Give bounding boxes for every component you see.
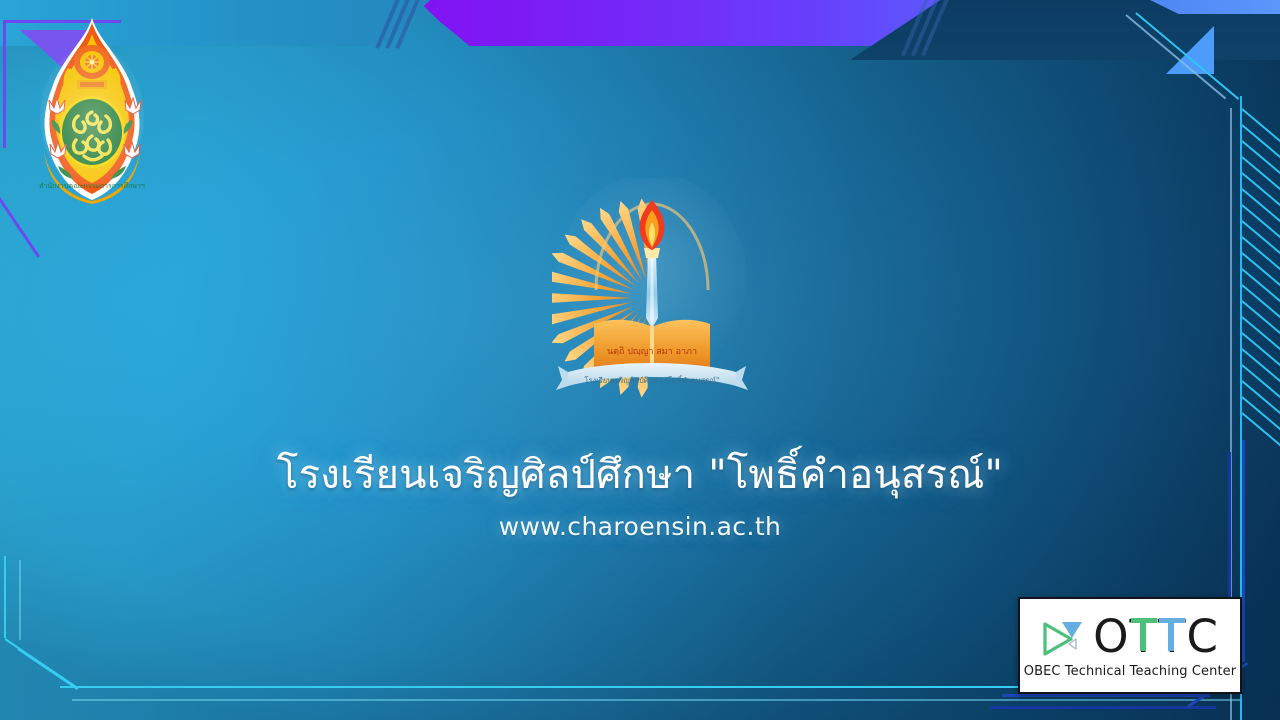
svg-text:โรงเรียนเจริญศิลป์ศึกษา "โพธิ์: โรงเรียนเจริญศิลป์ศึกษา "โพธิ์คำอนุสรณ์" bbox=[584, 375, 719, 385]
left-purple-stroke-vertical bbox=[3, 20, 6, 148]
frame-right-vertical bbox=[1242, 440, 1245, 662]
ottc-t2-stem-accent bbox=[1168, 623, 1174, 651]
ottc-subtitle: OBEC Technical Teaching Center bbox=[1024, 664, 1236, 679]
page-title: โรงเรียนเจริญศิลป์ศึกษา "โพธิ์คำอนุสรณ์" bbox=[0, 442, 1280, 506]
title-slide: สำนักงานคณะกรรมการการศึกษาฯ bbox=[0, 0, 1280, 720]
ottc-t1-stem-accent bbox=[1140, 623, 1146, 651]
ottc-letter-o: O bbox=[1093, 614, 1129, 659]
frame-bottom-right-horizontal bbox=[1002, 694, 1210, 697]
frame-left-vertical bbox=[4, 556, 6, 638]
ottc-logo-badge: O T T C OBEC Technical Teaching Center bbox=[1018, 597, 1242, 694]
obec-emblem: สำนักงานคณะกรรมการการศึกษาฯ bbox=[22, 16, 162, 206]
frame-left-vertical-dim bbox=[19, 560, 21, 640]
ottc-wordmark: O T T C bbox=[1041, 614, 1219, 659]
ottc-letter-t1: T bbox=[1130, 614, 1159, 659]
frame-bottom-horizontal-dim bbox=[72, 699, 1240, 701]
svg-text:นตฺถิ ปญฺญา สมา อาภา: นตฺถิ ปญฺญา สมา อาภา bbox=[607, 346, 697, 357]
school-emblem: นตฺถิ ปญฺญา สมา อาภา โรงเรียนเจริญศิลป์ศ… bbox=[552, 178, 752, 400]
ottc-letters: O T T C bbox=[1093, 614, 1219, 659]
website-url: www.charoensin.ac.th bbox=[0, 512, 1280, 541]
ottc-triangle-mark-icon bbox=[1041, 617, 1087, 657]
ottc-letter-t2: T bbox=[1158, 614, 1187, 659]
ottc-letter-c: C bbox=[1187, 614, 1219, 659]
frame-bottom-right-horizontal-2 bbox=[990, 706, 1216, 709]
